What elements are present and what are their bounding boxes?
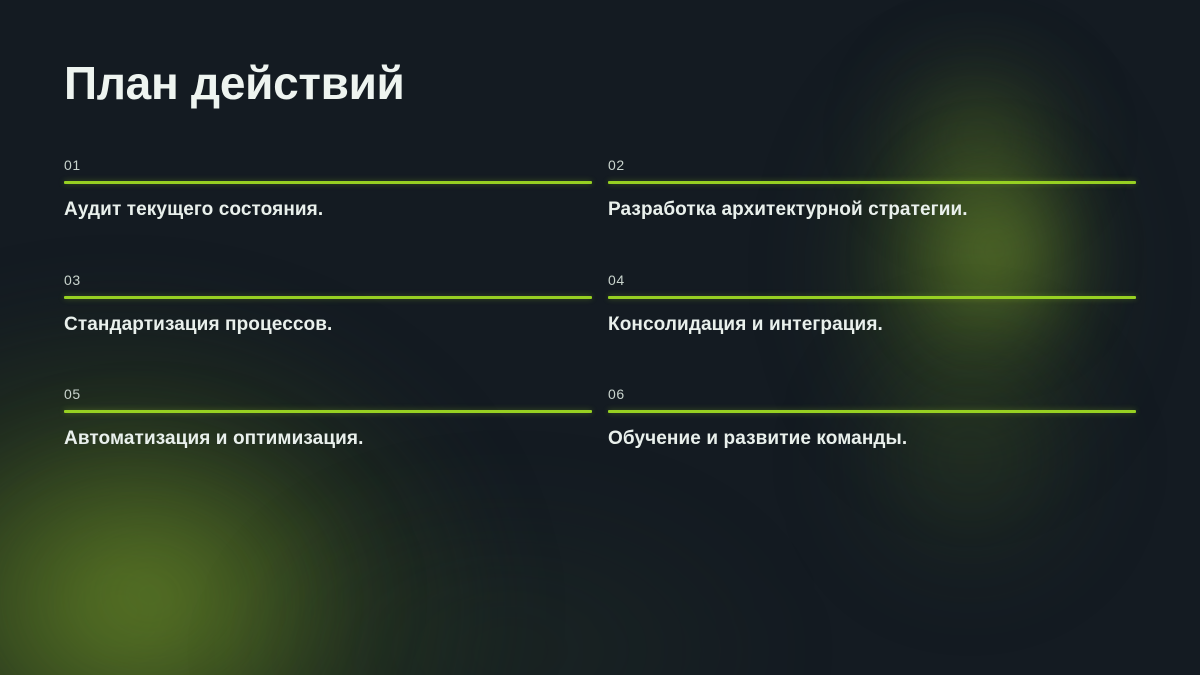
item-number: 04 <box>608 273 1136 296</box>
item-number: 01 <box>64 158 592 181</box>
item-label: Консолидация и интеграция. <box>608 299 1136 338</box>
item-label: Аудит текущего состояния. <box>64 184 592 223</box>
list-item-02[interactable]: 02 Разработка архитектурной стратегии. <box>608 158 1136 223</box>
item-label: Обучение и развитие команды. <box>608 413 1136 452</box>
item-number: 06 <box>608 387 1136 410</box>
item-number: 02 <box>608 158 1136 181</box>
item-label: Разработка архитектурной стратегии. <box>608 184 1136 223</box>
list-item-03[interactable]: 03 Стандартизация процессов. <box>64 273 592 338</box>
item-number: 05 <box>64 387 592 410</box>
list-item-04[interactable]: 04 Консолидация и интеграция. <box>608 273 1136 338</box>
slide-canvas: План действий 01 Аудит текущего состояни… <box>0 0 1200 675</box>
slide-content: План действий 01 Аудит текущего состояни… <box>0 0 1200 675</box>
item-label: Автоматизация и оптимизация. <box>64 413 592 452</box>
action-plan-list: 01 Аудит текущего состояния. 02 Разработ… <box>64 158 1136 452</box>
item-label: Стандартизация процессов. <box>64 299 592 338</box>
list-item-05[interactable]: 05 Автоматизация и оптимизация. <box>64 387 592 452</box>
list-item-01[interactable]: 01 Аудит текущего состояния. <box>64 158 592 223</box>
list-item-06[interactable]: 06 Обучение и развитие команды. <box>608 387 1136 452</box>
item-number: 03 <box>64 273 592 296</box>
page-title: План действий <box>64 58 405 110</box>
